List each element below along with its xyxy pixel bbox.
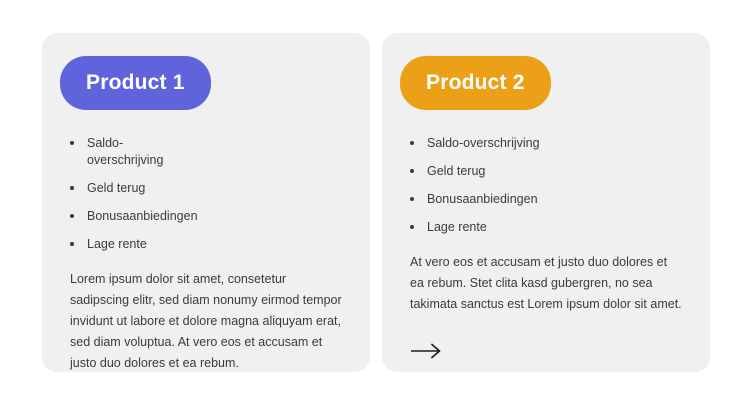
- bullet-icon: [410, 169, 414, 173]
- feature-label: Saldo-overschrijving: [427, 136, 540, 150]
- product-2-arrow-link[interactable]: [410, 341, 444, 361]
- bullet-icon: [70, 214, 74, 218]
- list-item: Saldo-overschrijving: [60, 135, 175, 169]
- feature-label: Bonusaanbiedingen: [427, 192, 538, 206]
- feature-label: Bonusaanbiedingen: [87, 209, 198, 223]
- arrow-right-icon: [410, 341, 444, 361]
- list-item: Geld terug: [60, 180, 175, 197]
- product-2-description: At vero eos et accusam et justo duo dolo…: [400, 252, 684, 315]
- feature-label: Lage rente: [427, 220, 487, 234]
- bullet-icon: [410, 141, 414, 145]
- bullet-icon: [410, 197, 414, 201]
- product-2-badge: Product 2: [400, 56, 551, 110]
- feature-label: Saldo-overschrijving: [87, 136, 163, 167]
- product-card-2: Product 2 Saldo-overschrijving Geld teru…: [382, 33, 710, 372]
- feature-label: Lage rente: [87, 237, 147, 251]
- bullet-icon: [70, 141, 74, 145]
- feature-label: Geld terug: [87, 181, 145, 195]
- product-2-feature-list: Saldo-overschrijving Geld terug Bonusaan…: [400, 135, 684, 236]
- page-root: Product 1 Saldo-overschrijving Geld teru…: [0, 0, 750, 405]
- feature-label: Geld terug: [427, 164, 485, 178]
- list-item: Saldo-overschrijving: [400, 135, 684, 152]
- list-item: Bonusaanbiedingen: [400, 191, 684, 208]
- product-1-feature-list: Saldo-overschrijving Geld terug Bonusaan…: [60, 135, 344, 253]
- product-cards-row: Product 1 Saldo-overschrijving Geld teru…: [42, 33, 710, 372]
- list-item: Lage rente: [60, 236, 175, 253]
- product-card-1: Product 1 Saldo-overschrijving Geld teru…: [42, 33, 370, 372]
- bullet-icon: [70, 186, 74, 190]
- list-item: Geld terug: [400, 163, 684, 180]
- list-item: Lage rente: [400, 219, 684, 236]
- list-item: Bonusaanbiedingen: [60, 208, 175, 225]
- bullet-icon: [410, 225, 414, 229]
- product-1-description: Lorem ipsum dolor sit amet, consetetur s…: [60, 269, 344, 372]
- product-1-badge: Product 1: [60, 56, 211, 110]
- bullet-icon: [70, 242, 74, 246]
